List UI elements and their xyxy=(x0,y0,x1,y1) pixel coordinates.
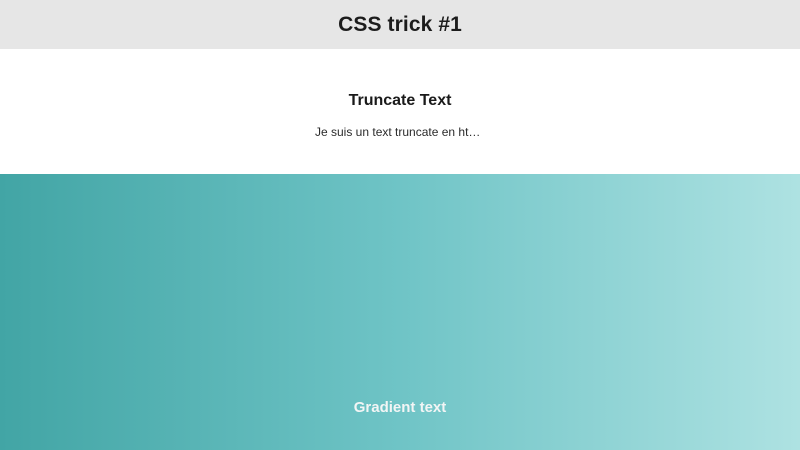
gradient-section: Gradient text xyxy=(0,174,800,450)
truncate-paragraph: Je suis un text truncate en html c… xyxy=(315,125,485,139)
header-bar: CSS trick #1 xyxy=(0,0,800,49)
page-title: CSS trick #1 xyxy=(338,14,462,35)
page-root: CSS trick #1 Truncate Text Je suis un te… xyxy=(0,0,800,450)
gradient-text-label: Gradient text xyxy=(0,400,800,415)
truncate-section: Truncate Text Je suis un text truncate e… xyxy=(0,49,800,174)
truncate-heading: Truncate Text xyxy=(349,92,452,110)
